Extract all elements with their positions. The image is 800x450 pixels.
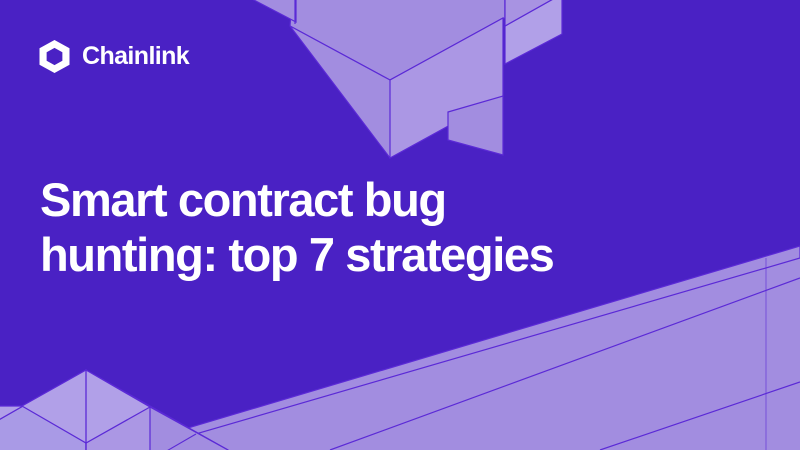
bottom-left-peak-cluster <box>0 370 228 450</box>
chainlink-title-banner: Chainlink Smart contract bug hunting: to… <box>0 0 800 450</box>
page-title: Smart contract bug hunting: top 7 strate… <box>40 172 640 283</box>
chainlink-hexagon-logo-icon <box>38 40 71 73</box>
top-isometric-cluster <box>250 0 562 158</box>
chainlink-logo-lockup[interactable]: Chainlink <box>38 40 189 73</box>
chainlink-wordmark: Chainlink <box>82 44 189 69</box>
